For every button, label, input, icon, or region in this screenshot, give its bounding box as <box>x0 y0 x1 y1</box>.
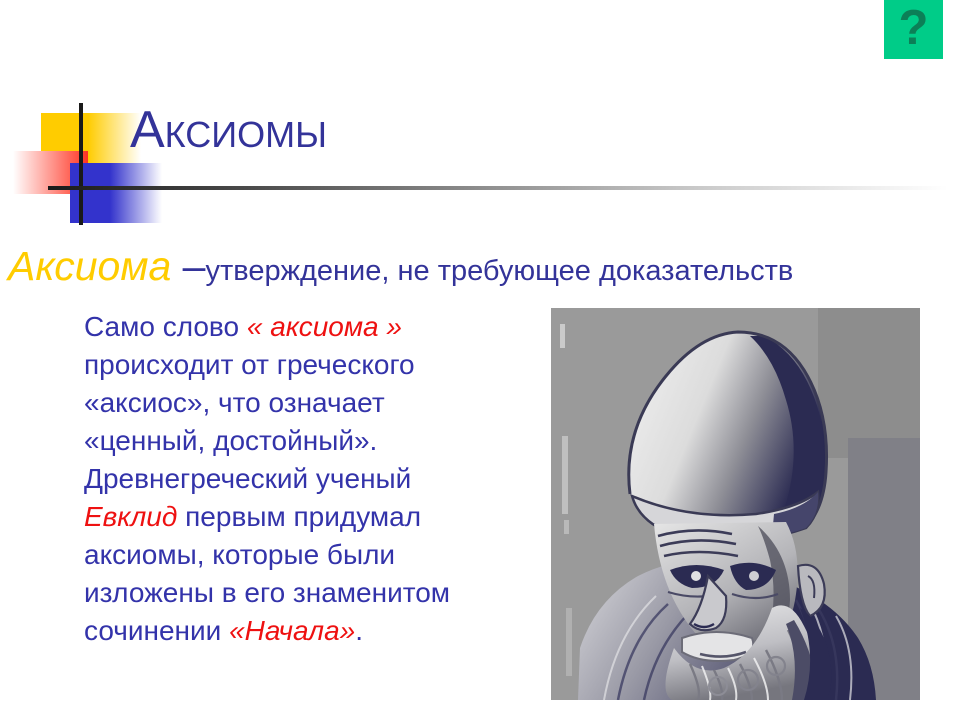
body-text-part-2: происходит от греческого «аксиос», что о… <box>84 349 415 494</box>
page-title: Аксиомы <box>130 100 327 160</box>
definition-dash: – <box>171 243 205 289</box>
body-text-part-4: . <box>355 615 363 646</box>
euclid-portrait-image <box>518 308 920 700</box>
body-text-part-1: Само слово <box>84 311 247 342</box>
body-highlight-euclid: Евклид <box>84 501 177 532</box>
body-highlight-elements: «Начала» <box>229 615 355 646</box>
slide-canvas: ? Аксиомы Аксиома –утверждение, не требу… <box>0 0 960 720</box>
body-highlight-aksioma: « аксиома » <box>247 311 402 342</box>
decoration-blue-block <box>70 163 110 223</box>
definition-line: Аксиома –утверждение, не требующее доказ… <box>8 243 952 290</box>
body-paragraph: Само слово « аксиома » происходит от гре… <box>84 308 494 650</box>
definition-text: утверждение, не требующее доказательств <box>205 255 793 287</box>
decoration-vertical-rule <box>79 103 83 225</box>
question-mark-icon: ? <box>899 4 929 53</box>
definition-term: Аксиома <box>8 243 171 289</box>
title-horizontal-rule <box>48 186 948 190</box>
decoration-blue-gradient <box>110 163 162 223</box>
help-badge[interactable]: ? <box>884 0 943 59</box>
